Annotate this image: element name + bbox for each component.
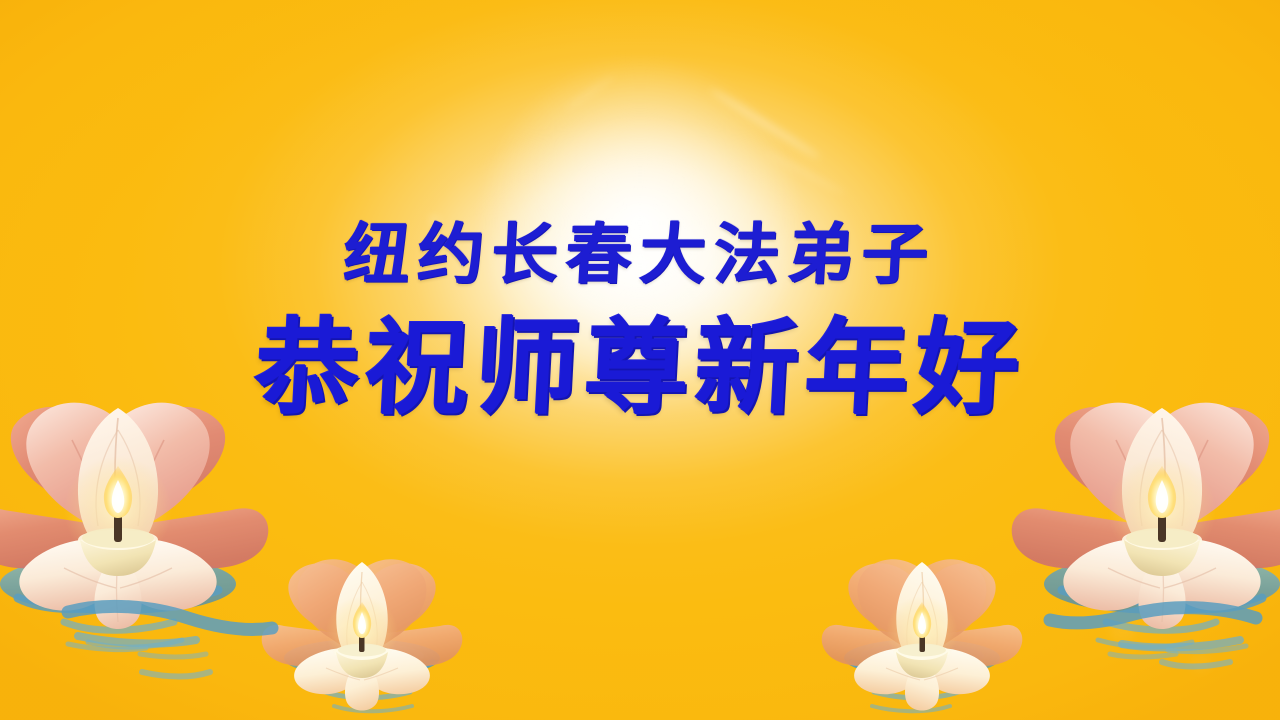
lotus-small-right (822, 540, 1022, 720)
greeting-line-2: 恭祝师尊新年好 (0, 316, 1280, 420)
water-ripples-left (20, 596, 320, 706)
greeting-card: 纽约长春大法弟子 恭祝师尊新年好 (0, 0, 1280, 720)
greeting-line-1: 纽约长春大法弟子 (0, 222, 1280, 288)
water-ripples-right (1000, 596, 1280, 706)
